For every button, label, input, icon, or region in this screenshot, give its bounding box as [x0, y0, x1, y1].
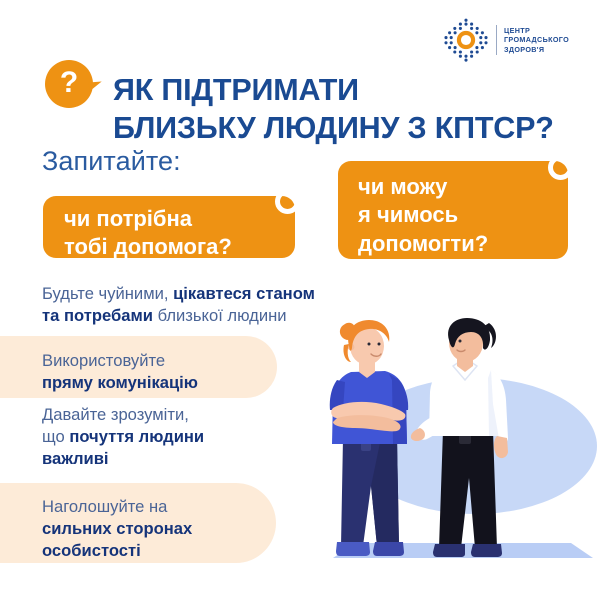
- advice-item-direct-communication: Використовуйте пряму комунікацію: [0, 336, 277, 398]
- speech-bubble-tail: [89, 82, 103, 92]
- page-title-line-1: ЯК ПІДТРИМАТИ: [113, 72, 593, 109]
- ring-decoration-icon: [548, 155, 573, 180]
- speech-bubble-need-help: чи потрібна тобі допомога?: [43, 196, 295, 258]
- page-title-line-2: БЛИЗЬКУ ЛЮДИНУ З КПТСР?: [113, 110, 593, 147]
- advice-item-feelings-matter-text: Давайте зрозуміти, що почуття людини важ…: [42, 404, 330, 470]
- speech-bubble-need-help-text: чи потрібна тобі допомога?: [64, 206, 232, 259]
- ask-label: Запитайте:: [42, 146, 181, 177]
- page-title: ЯК ПІДТРИМАТИ БЛИЗЬКУ ЛЮДИНУ З КПТСР?: [113, 72, 593, 146]
- speech-bubble-can-i-help-text: чи можу я чимось допомогти?: [358, 174, 488, 256]
- advice-item-direct-communication-text: Використовуйте пряму комунікацію: [42, 350, 277, 394]
- ring-decoration-icon: [275, 189, 300, 214]
- advice-item-strengths: Наголошуйте на сильних сторонах особисто…: [0, 483, 276, 563]
- logo: ЦЕНТР ГРОМАДСЬКОГО ЗДОРОВ'Я: [443, 17, 569, 63]
- advice-item-be-attentive-text: Будьте чуйними, цікавтеся станом та потр…: [42, 283, 330, 327]
- advice-item-feelings-matter: Давайте зрозуміти, що почуття людини важ…: [0, 404, 330, 470]
- logo-text: ЦЕНТР ГРОМАДСЬКОГО ЗДОРОВ'Я: [504, 26, 569, 55]
- logo-mark-icon: [443, 17, 489, 63]
- two-people-supporting-illustration: [325, 318, 600, 583]
- infographic-poster: ЦЕНТР ГРОМАДСЬКОГО ЗДОРОВ'Я ? ЯК ПІДТРИМ…: [0, 0, 600, 600]
- logo-divider: [496, 25, 497, 55]
- advice-item-be-attentive: Будьте чуйними, цікавтеся станом та потр…: [0, 283, 330, 327]
- speech-bubble-can-i-help: чи можу я чимось допомогти?: [338, 161, 568, 259]
- question-speech-bubble-icon: ?: [45, 60, 93, 108]
- question-mark-glyph: ?: [60, 68, 78, 98]
- advice-item-strengths-text: Наголошуйте на сильних сторонах особисто…: [42, 496, 276, 562]
